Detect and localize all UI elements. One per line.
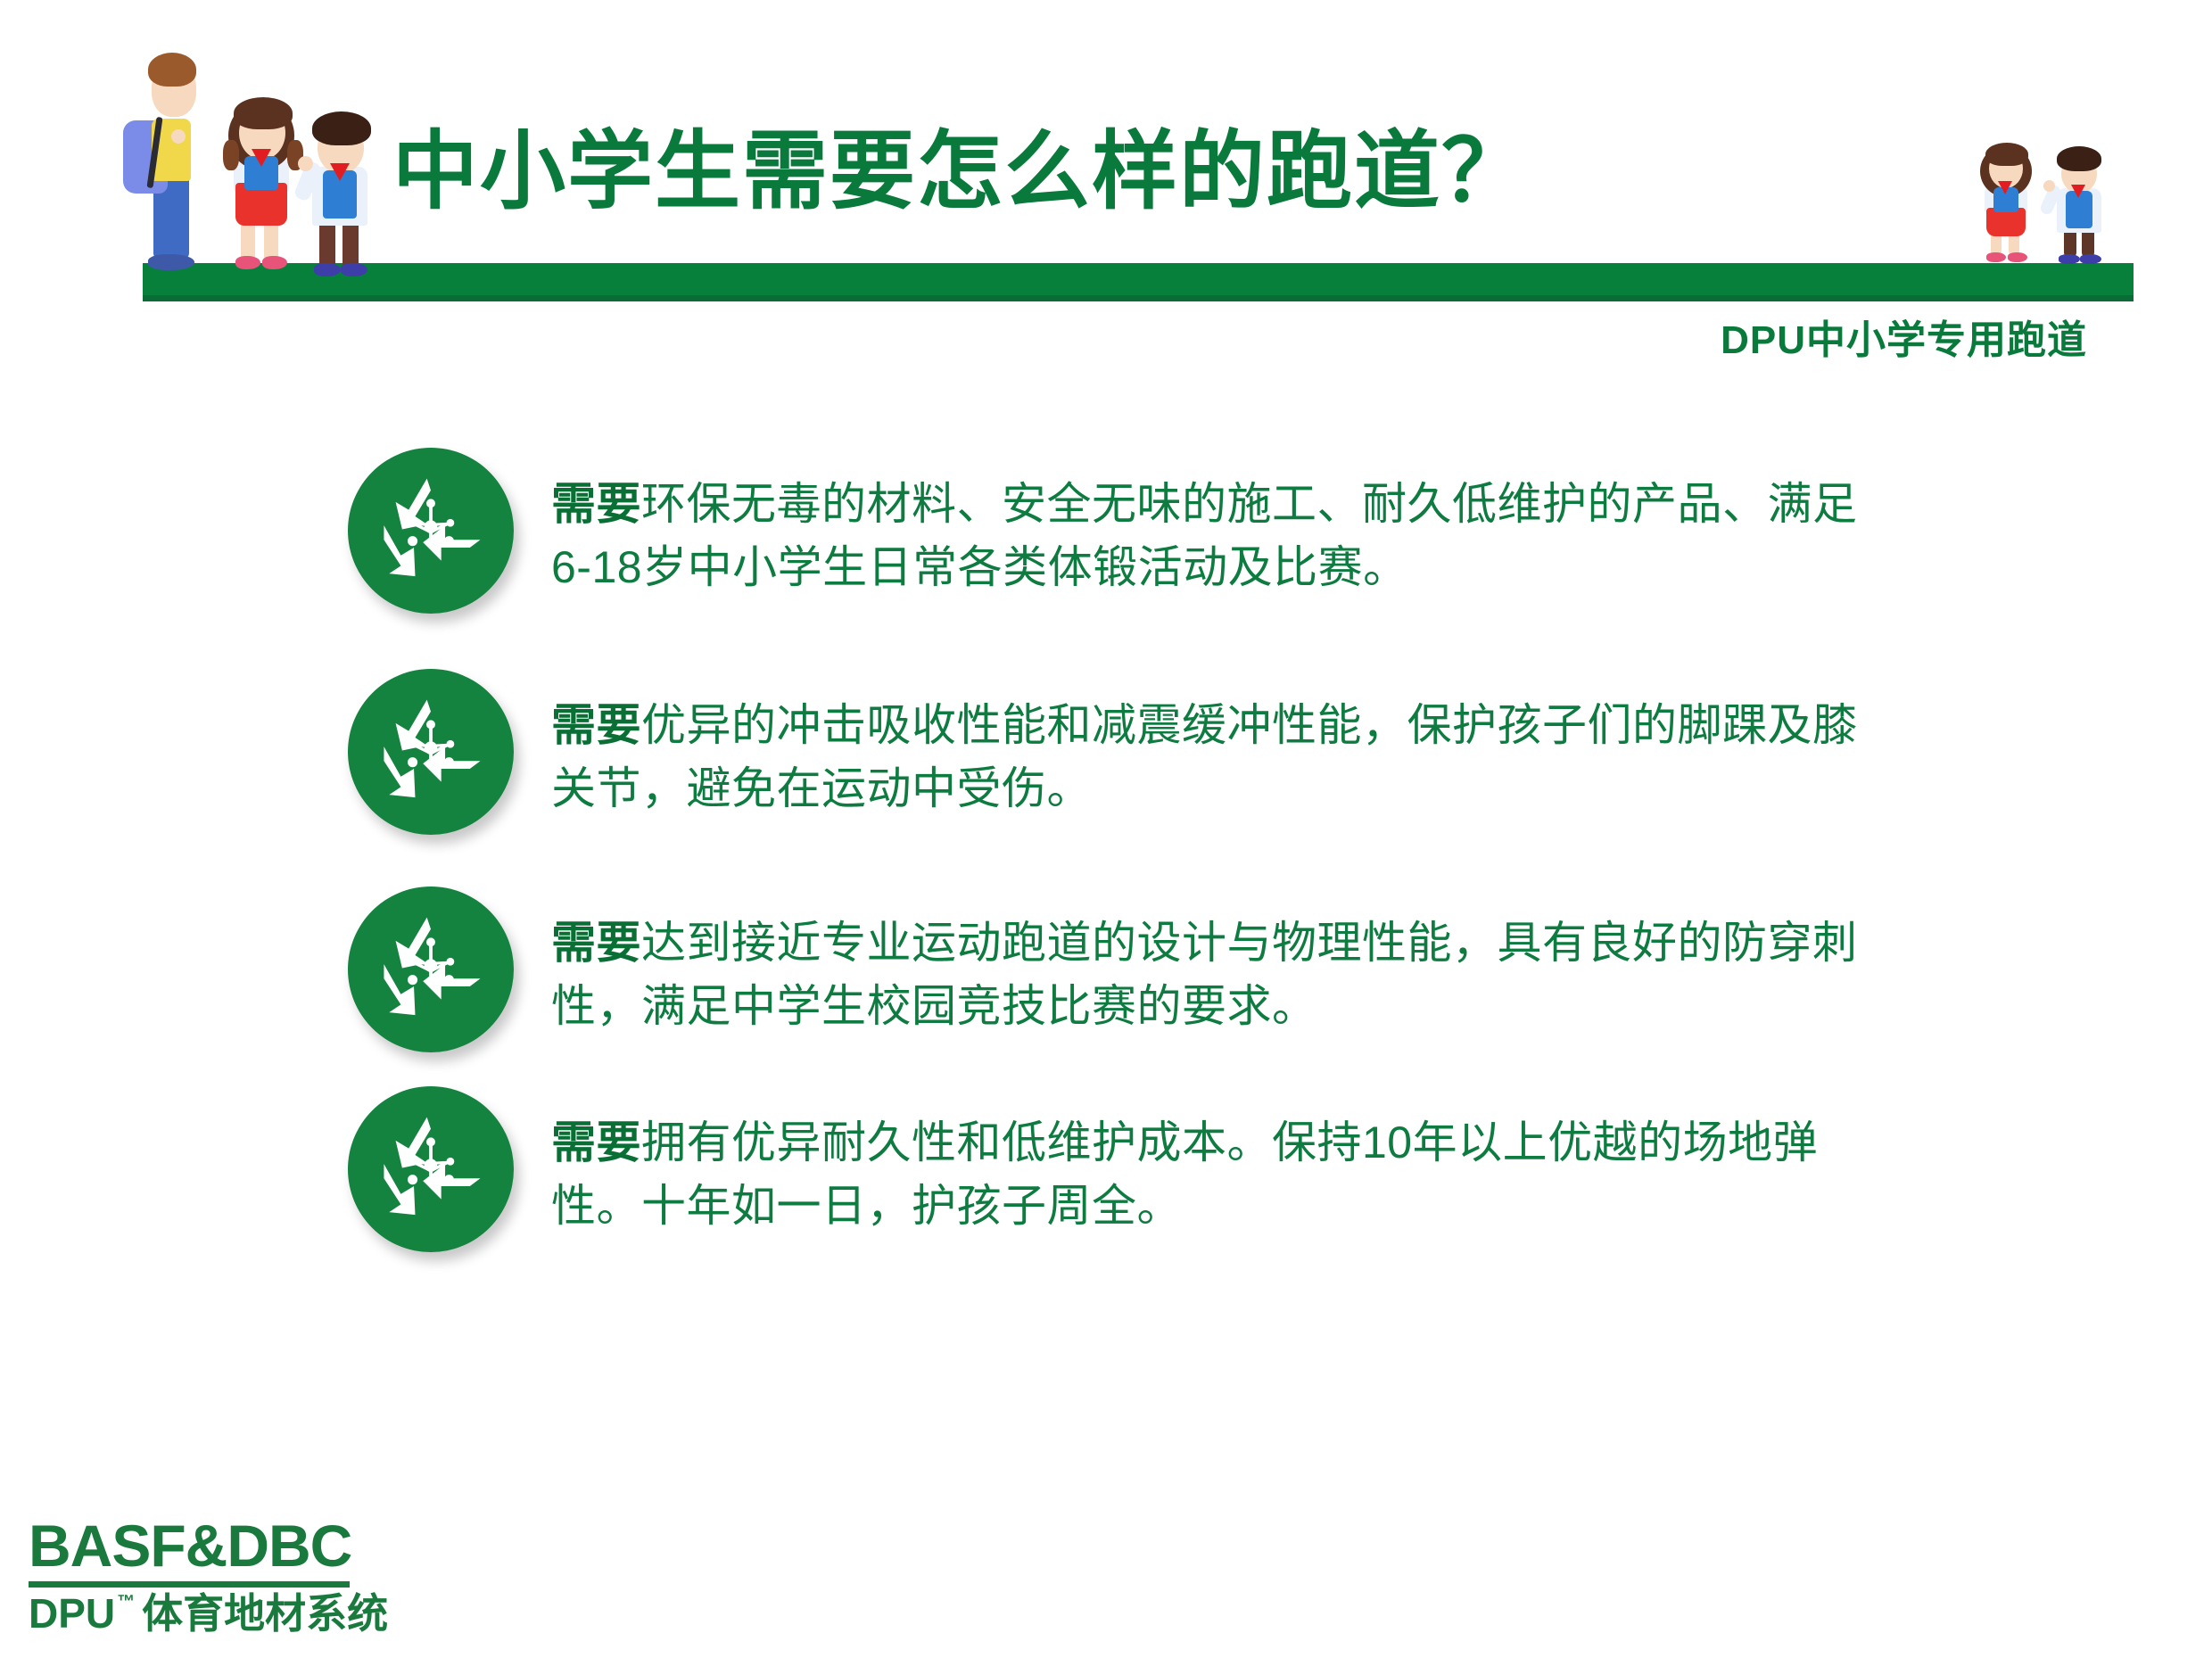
bullet-lead: 需要	[551, 479, 641, 529]
bullet-list: 需要环保无毒的材料、安全无味的施工、耐久低维护的产品、满足6-18岁中小学生日常…	[0, 446, 2212, 1293]
bullet-lead: 需要	[551, 918, 641, 968]
list-item: 需要达到接近专业运动跑道的设计与物理性能，具有良好的防穿刺性，满足中学生校园竞技…	[0, 885, 2212, 1052]
bullet-text: 需要优异的冲击吸收性能和减震缓冲性能，保护孩子们的脚踝及膝关节，避免在运动中受伤…	[551, 667, 1889, 821]
recycle-icon	[348, 1086, 514, 1252]
logo-product-line: DPU™体育地材系统	[29, 1593, 388, 1634]
list-item: 需要拥有优异耐久性和低维护成本。保持10年以上优越的场地弹性。十年如一日，护孩子…	[0, 1085, 2212, 1252]
recycle-icon	[348, 669, 514, 835]
bullet-text: 需要达到接近专业运动跑道的设计与物理性能，具有良好的防穿刺性，满足中学生校园竞技…	[551, 885, 1889, 1038]
brand-logo: BASF&DBC DPU™体育地材系统	[29, 1516, 388, 1634]
bullet-lead: 需要	[551, 1118, 641, 1167]
bullet-lead: 需要	[551, 700, 641, 750]
list-item: 需要优异的冲击吸收性能和减震缓冲性能，保护孩子们的脚踝及膝关节，避免在运动中受伤…	[0, 667, 2212, 835]
student-girl-left	[214, 87, 303, 274]
bullet-body: 环保无毒的材料、安全无味的施工、耐久低维护的产品、满足6-18岁中小学生日常各类…	[551, 479, 1858, 592]
trademark-icon: ™	[117, 1593, 135, 1611]
students-right-illustration	[1971, 138, 2132, 268]
bullet-text: 需要拥有优异耐久性和低维护成本。保持10年以上优越的场地弹性。十年如一日，护孩子…	[551, 1085, 1889, 1238]
student-boy-right	[2043, 144, 2118, 268]
logo-product-text: DPU	[29, 1593, 115, 1634]
bullet-body: 拥有优异耐久性和低维护成本。保持10年以上优越的场地弹性。十年如一日，护孩子周全…	[551, 1118, 1818, 1231]
student-boy-left	[294, 104, 384, 278]
header-accent-bar	[143, 263, 2134, 295]
bullet-body: 优异的冲击吸收性能和减震缓冲性能，保护孩子们的脚踝及膝关节，避免在运动中受伤。	[551, 700, 1858, 813]
logo-product-suffix: 体育地材系统	[142, 1593, 388, 1634]
bullet-text: 需要环保无毒的材料、安全无味的施工、耐久低维护的产品、满足6-18岁中小学生日常…	[551, 446, 1889, 599]
slide-header: 中小学生需要怎么样的跑道？ DPU中小学专用跑道	[0, 0, 2212, 357]
recycle-icon	[348, 887, 514, 1052]
bullet-body: 达到接近专业运动跑道的设计与物理性能，具有良好的防穿刺性，满足中学生校园竞技比赛…	[551, 918, 1858, 1031]
page-title: 中小学生需要怎么样的跑道？	[392, 125, 1529, 219]
student-boy-backpack	[125, 40, 223, 272]
logo-divider	[29, 1581, 350, 1588]
recycle-icon	[348, 448, 514, 614]
header-subtitle: DPU中小学专用跑道	[1721, 308, 2087, 365]
logo-brand-text: BASF&DBC	[29, 1516, 388, 1575]
list-item: 需要环保无毒的材料、安全无味的施工、耐久低维护的产品、满足6-18岁中小学生日常…	[0, 446, 2212, 614]
slide-canvas: 中小学生需要怎么样的跑道？ DPU中小学专用跑道	[0, 0, 2212, 1666]
student-girl-right	[1971, 138, 2043, 268]
students-left-illustration	[116, 31, 392, 276]
